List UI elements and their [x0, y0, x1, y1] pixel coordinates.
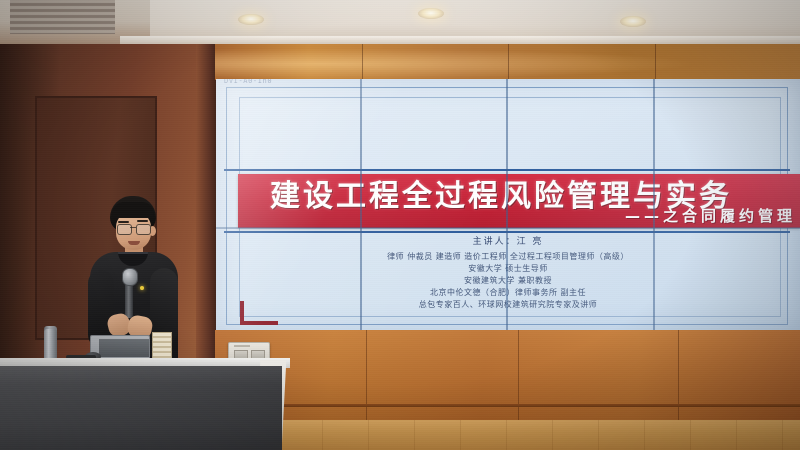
lecture-hall-scene: DVI-A0-In0 建设工程全过程风险管理与实务 ——之合同履约管理 主讲人：…: [0, 0, 800, 450]
microphone-handle: [125, 282, 133, 318]
wood-seam: [508, 44, 509, 80]
wainscot-rail: [215, 404, 800, 407]
presenter-eyebrow: [118, 221, 129, 223]
downlight-icon: [620, 16, 646, 27]
microphone-led: [140, 286, 144, 290]
downlight-icon: [418, 8, 444, 19]
slide-credential-line: 安徽建筑大学 兼职教授: [216, 275, 800, 287]
lower-wood-wainscot: [215, 330, 800, 422]
wainscot-seam: [518, 330, 519, 422]
slide-corner-bracket: [240, 301, 278, 325]
glasses-lens: [117, 224, 132, 235]
socket-tag: [234, 345, 250, 347]
video-wall-bezel: [653, 79, 655, 331]
slide-presenter-block: 主讲人：江 亮 律师 仲裁员 建造师 造价工程师 全过程工程项目管理师（高级） …: [216, 234, 800, 311]
glasses-icon: [117, 224, 150, 233]
air-vent: [10, 0, 115, 34]
table-cloth: [0, 366, 282, 450]
slide-credential-line: 北京中伦文德（合肥）律师事务所 副主任: [216, 287, 800, 299]
slide-credential-line: 安徽大学 硕士生导师: [216, 263, 800, 275]
slide-credential-line: 总包专家百人、环球网校建筑研究院专家及讲师: [216, 299, 800, 311]
wainscot-seam: [366, 330, 367, 422]
slide-title-banner: 建设工程全过程风险管理与实务 ——之合同履约管理: [238, 174, 800, 228]
video-wall-bezel: [360, 79, 362, 331]
presenter-eyebrow: [137, 220, 148, 222]
glasses-lens: [136, 224, 151, 235]
slide-credential-line: 律师 仲裁员 建造师 造价工程师 全过程工程项目管理师（高级）: [216, 251, 800, 263]
microphone-icon: [122, 268, 138, 286]
laptop-screen: [99, 339, 149, 357]
video-wall-bezel: [216, 227, 800, 229]
wood-seam: [655, 44, 656, 80]
presenter-hair-fringe: [112, 202, 154, 218]
video-wall-display[interactable]: DVI-A0-In0 建设工程全过程风险管理与实务 ——之合同履约管理 主讲人：…: [216, 79, 800, 331]
video-input-label: DVI-A0-In0: [224, 79, 272, 85]
slide-speaker-line: 主讲人：江 亮: [216, 234, 800, 247]
video-wall-bezel: [506, 79, 508, 331]
slide-subtitle: ——之合同履约管理: [625, 205, 796, 226]
wainscot-seam: [678, 330, 679, 422]
downlight-icon: [238, 14, 264, 25]
wood-seam: [362, 44, 363, 80]
